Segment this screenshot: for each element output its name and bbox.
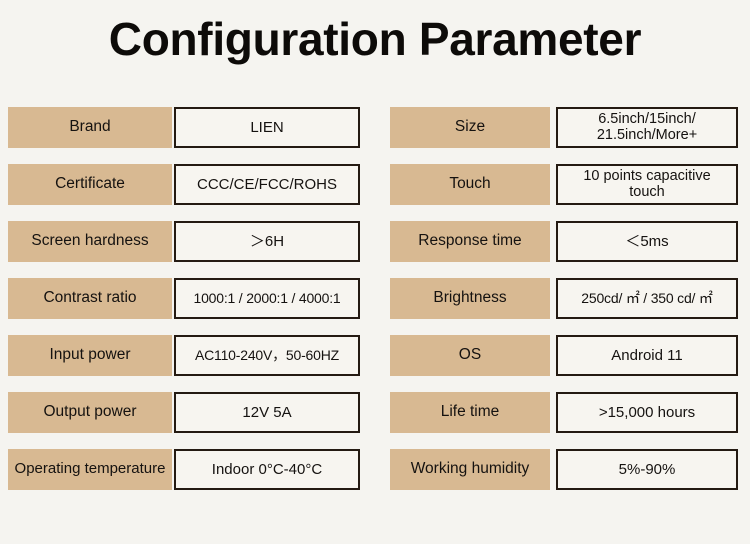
spec-label-brand: Brand [8, 107, 172, 148]
spec-row-working-humidity: Working humidity 5%-90% [390, 449, 738, 490]
spec-row-life-time: Life time >15,000 hours [390, 392, 738, 433]
spec-row-output-power: Output power 12V 5A [8, 392, 360, 433]
spec-label-certificate: Certificate [8, 164, 172, 205]
spec-label-input-power: Input power [8, 335, 172, 376]
spec-row-brightness: Brightness 250cd/ ㎡ / 350 cd/ ㎡ [390, 278, 738, 319]
spec-value-touch: 10 points capacitive touch [556, 164, 738, 205]
spec-value-brightness: 250cd/ ㎡ / 350 cd/ ㎡ [556, 278, 738, 319]
spec-value-input-power: AC110-240V，50-60HZ [174, 335, 360, 376]
spec-label-touch: Touch [390, 164, 550, 205]
spec-row-screen-hardness: Screen hardness ＞6H [8, 221, 360, 262]
spec-row-touch: Touch 10 points capacitive touch [390, 164, 738, 205]
spec-label-output-power: Output power [8, 392, 172, 433]
configuration-parameter-sheet: Configuration Parameter Brand LIEN Certi… [0, 0, 750, 544]
spec-row-certificate: Certificate CCC/CE/FCC/ROHS [8, 164, 360, 205]
spec-value-os: Android 11 [556, 335, 738, 376]
spec-row-brand: Brand LIEN [8, 107, 360, 148]
spec-value-operating-temperature: Indoor 0°C-40°C [174, 449, 360, 490]
spec-row-size: Size 6.5inch/15inch/ 21.5inch/More+ [390, 107, 738, 148]
spec-label-contrast-ratio: Contrast ratio [8, 278, 172, 319]
spec-row-operating-temperature: Operating temperature Indoor 0°C-40°C [8, 449, 360, 490]
spec-row-input-power: Input power AC110-240V，50-60HZ [8, 335, 360, 376]
spec-label-working-humidity: Working humidity [390, 449, 550, 490]
spec-value-life-time: >15,000 hours [556, 392, 738, 433]
spec-label-size: Size [390, 107, 550, 148]
spec-label-operating-temperature: Operating temperature [8, 449, 172, 490]
spec-column-left: Brand LIEN Certificate CCC/CE/FCC/ROHS S… [8, 107, 360, 506]
spec-value-contrast-ratio: 1000:1 / 2000:1 / 4000:1 [174, 278, 360, 319]
spec-value-screen-hardness: ＞6H [174, 221, 360, 262]
spec-value-response-time: ＜5ms [556, 221, 738, 262]
spec-value-working-humidity: 5%-90% [556, 449, 738, 490]
spec-value-output-power: 12V 5A [174, 392, 360, 433]
spec-label-screen-hardness: Screen hardness [8, 221, 172, 262]
spec-label-response-time: Response time [390, 221, 550, 262]
spec-row-os: OS Android 11 [390, 335, 738, 376]
spec-value-certificate: CCC/CE/FCC/ROHS [174, 164, 360, 205]
page-title: Configuration Parameter [0, 16, 750, 62]
spec-row-contrast-ratio: Contrast ratio 1000:1 / 2000:1 / 4000:1 [8, 278, 360, 319]
spec-label-os: OS [390, 335, 550, 376]
spec-value-brand: LIEN [174, 107, 360, 148]
spec-label-life-time: Life time [390, 392, 550, 433]
spec-row-response-time: Response time ＜5ms [390, 221, 738, 262]
spec-column-right: Size 6.5inch/15inch/ 21.5inch/More+ Touc… [390, 107, 738, 506]
spec-label-brightness: Brightness [390, 278, 550, 319]
spec-value-size: 6.5inch/15inch/ 21.5inch/More+ [556, 107, 738, 148]
